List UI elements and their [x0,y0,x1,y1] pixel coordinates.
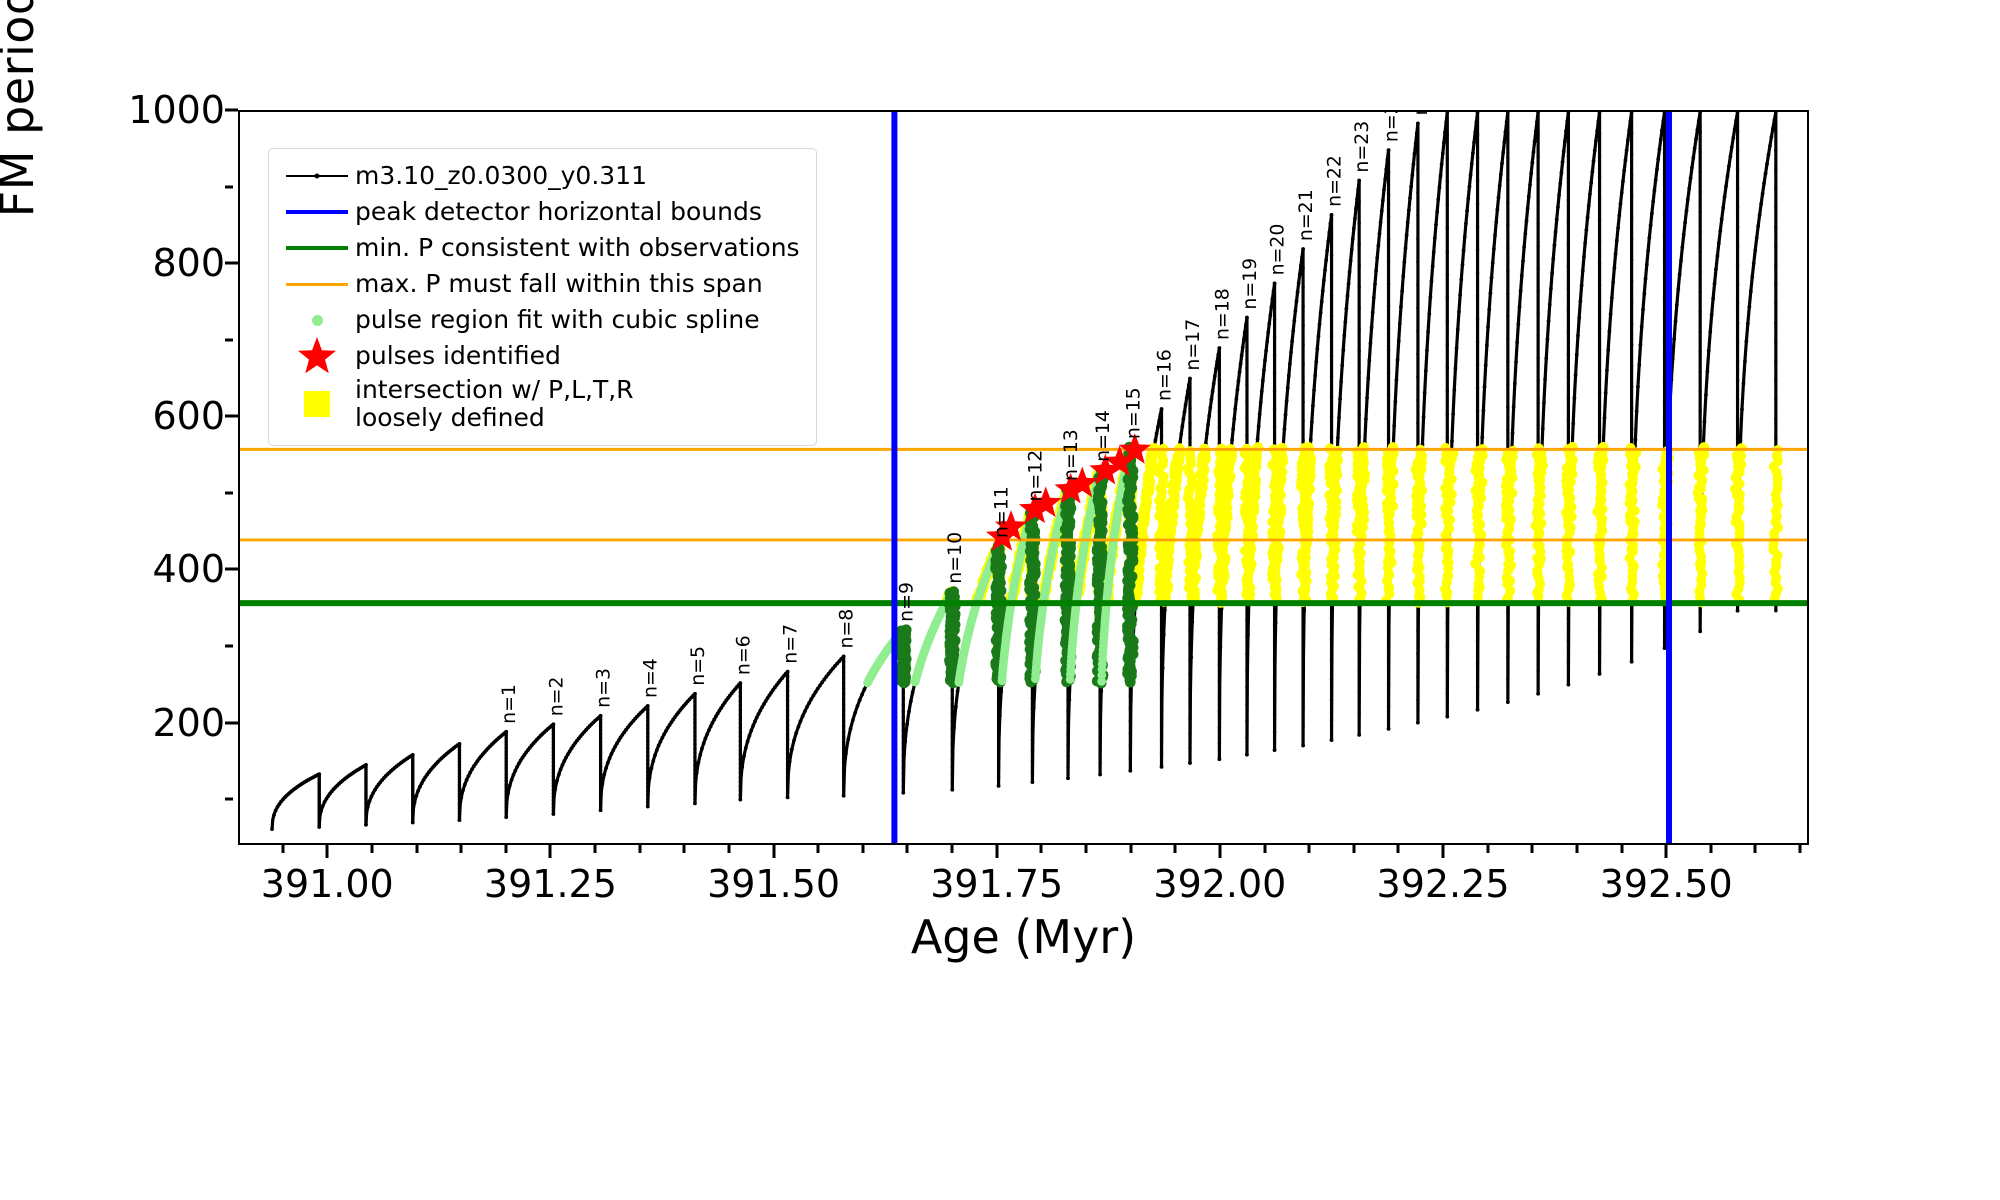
x-axis-label: Age (Myr) [238,910,1809,964]
x-tick-mark-minor [1129,845,1132,853]
blue-line-icon [279,197,355,227]
x-tick-mark-minor [683,845,686,853]
x-tick-mark-minor [1754,845,1757,853]
x-tick-mark-minor [817,845,820,853]
pulse-label: n=19 [1239,258,1261,310]
y-tick-mark-minor [225,185,233,188]
x-tick-mark-minor [951,845,954,853]
yellow-square-icon [279,389,355,419]
x-tick-mark-minor [504,845,507,853]
y-tick-mark [225,415,238,418]
legend-label: min. P consistent with observations [355,234,800,262]
legend-item[interactable]: intersection w/ P,L,T,R loosely defined [279,374,806,434]
pulse-label: n=25 [1410,112,1432,115]
legend-label: intersection w/ P,L,T,R loosely defined [355,376,634,432]
red-star-icon [294,333,340,379]
pulse-label: n=21 [1295,189,1317,241]
pulse-label: n=9 [895,582,917,622]
x-axis-tick-labels: 391.00391.25391.50391.75392.00392.25392.… [238,862,1809,910]
x-tick-mark-minor [1352,845,1355,853]
x-tick-mark [1218,845,1221,858]
x-tick-label: 392.25 [1377,862,1510,906]
x-tick-label: 391.00 [261,862,394,906]
y-tick-label: 200 [75,701,225,745]
pulse-label: n=7 [780,624,802,664]
x-tick-mark-minor [1084,845,1087,853]
legend-label: peak detector horizontal bounds [355,198,762,226]
legend-item[interactable]: pulse region fit with cubic spline [279,302,806,338]
y-tick-mark-minor [225,338,233,341]
pulse-label: n=2 [545,676,567,716]
x-tick-mark [1665,845,1668,858]
pulse-label: n=24 [1381,112,1403,142]
figure-canvas: FM period (days) 2004006008001000 n=1n=2… [0,0,2000,1200]
pulse-label: n=16 [1154,349,1176,401]
x-tick-mark-minor [460,845,463,853]
x-axis-tick-marks [238,845,1809,861]
pulse-label: n=5 [687,646,709,686]
x-tick-mark-minor [1575,845,1578,853]
pulse-label: n=4 [640,658,662,698]
x-tick-label: 391.50 [707,862,840,906]
pulse-label: n=15 [1122,387,1144,439]
x-tick-mark-minor [861,845,864,853]
x-tick-mark-minor [415,845,418,853]
x-tick-label: 391.25 [484,862,617,906]
legend-item[interactable]: pulses identified [279,338,806,374]
pulse-label: n=18 [1211,288,1233,340]
legend-item[interactable]: min. P consistent with observations [279,230,806,266]
light-green-dot-icon [279,305,355,335]
x-tick-mark-minor [370,845,373,853]
pulse-label: n=1 [498,684,520,724]
x-tick-mark-minor [1263,845,1266,853]
x-tick-mark-minor [594,845,597,853]
legend-item[interactable]: peak detector horizontal bounds [279,194,806,230]
y-tick-label: 1000 [75,88,225,132]
y-tick-mark [225,568,238,571]
x-tick-mark-minor [1531,845,1534,853]
red-star-icon [279,341,355,371]
y-axis-tick-labels: 2004006008001000 [60,110,225,845]
x-tick-mark [772,845,775,858]
pulse-label: n=10 [944,532,966,584]
y-tick-mark-minor [225,491,233,494]
y-axis-label: FM period (days) [0,0,44,300]
legend[interactable]: m3.10_z0.0300_y0.311peak detector horizo… [268,148,817,446]
x-tick-label: 392.00 [1153,862,1286,906]
orange-line-icon [279,269,355,299]
y-tick-label: 800 [75,241,225,285]
x-tick-mark-minor [1308,845,1311,853]
y-tick-mark [225,262,238,265]
x-tick-mark-minor [1397,845,1400,853]
x-tick-mark-minor [1709,845,1712,853]
legend-item[interactable]: max. P must fall within this span [279,266,806,302]
y-tick-mark-minor [225,644,233,647]
x-tick-mark [326,845,329,858]
x-tick-mark-minor [1174,845,1177,853]
pulse-label: n=6 [732,635,754,675]
x-tick-label: 391.75 [930,862,1063,906]
y-axis-tick-marks [225,110,239,845]
legend-item[interactable]: m3.10_z0.0300_y0.311 [279,158,806,194]
x-tick-mark-minor [1040,845,1043,853]
x-tick-mark-minor [638,845,641,853]
legend-label: m3.10_z0.0300_y0.311 [355,162,647,190]
x-tick-mark-minor [1620,845,1623,853]
pulse-label: n=12 [1024,450,1046,502]
legend-label: pulses identified [355,342,561,370]
x-tick-mark [549,845,552,858]
pulse-label: n=8 [836,609,858,649]
pulse-label: n=14 [1092,410,1114,462]
x-tick-label: 392.50 [1600,862,1733,906]
x-tick-mark-minor [727,845,730,853]
x-tick-mark-minor [1799,845,1802,853]
pulse-label: n=11 [991,486,1013,538]
y-tick-mark [225,721,238,724]
x-tick-mark [1442,845,1445,858]
pulse-label: n=23 [1351,121,1373,173]
x-tick-mark [995,845,998,858]
green-line-icon [279,233,355,263]
legend-label: pulse region fit with cubic spline [355,306,760,334]
y-tick-mark [225,109,238,112]
pulse-label: n=13 [1060,429,1082,481]
black-line-with-dot-icon [279,161,355,191]
pulse-label: n=3 [593,668,615,708]
pulse-label: n=20 [1267,224,1289,276]
pulse-label: n=17 [1182,319,1204,371]
legend-label: max. P must fall within this span [355,270,763,298]
x-tick-mark-minor [281,845,284,853]
x-tick-mark-minor [906,845,909,853]
y-tick-label: 400 [75,547,225,591]
y-tick-label: 600 [75,394,225,438]
pulse-label: n=22 [1323,155,1345,207]
y-tick-mark-minor [225,798,233,801]
x-tick-mark-minor [1486,845,1489,853]
